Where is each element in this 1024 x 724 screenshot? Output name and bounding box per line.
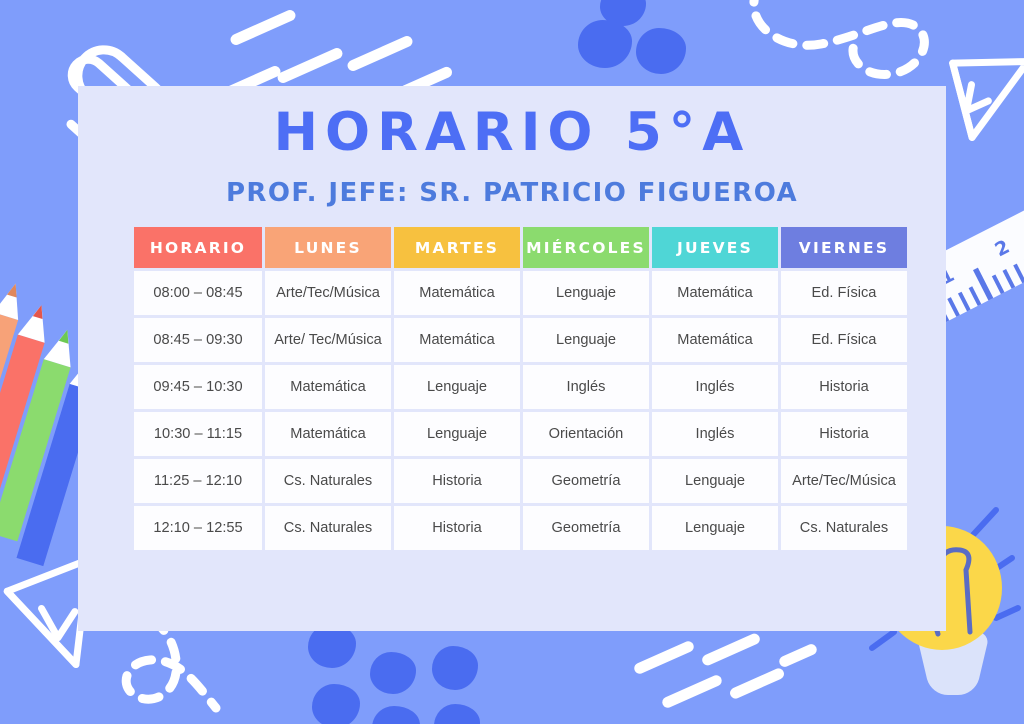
cell-martes: Matemática [394,271,520,315]
cell-jueves: Lenguaje [652,506,778,550]
column-header-miercoles: MIÉRCOLES [523,227,649,268]
cell-miercoles: Inglés [523,365,649,409]
column-header-viernes: VIERNES [781,227,907,268]
cell-jueves: Matemática [652,271,778,315]
table-row: 08:45 – 09:30 Arte/ Tec/Música Matemátic… [134,318,907,362]
cell-time: 08:00 – 08:45 [134,271,262,315]
table-row: 12:10 – 12:55 Cs. Naturales Historia Geo… [134,506,907,550]
cell-lunes: Matemática [265,365,391,409]
cell-jueves: Lenguaje [652,459,778,503]
cell-lunes: Cs. Naturales [265,459,391,503]
column-header-horario: HORARIO [134,227,262,268]
cell-martes: Historia [394,506,520,550]
cell-miercoles: Lenguaje [523,271,649,315]
table-row: 08:00 – 08:45 Arte/Tec/Música Matemática… [134,271,907,315]
table-row: 10:30 – 11:15 Matemática Lenguaje Orient… [134,412,907,456]
table-row: 11:25 – 12:10 Cs. Naturales Historia Geo… [134,459,907,503]
cell-lunes: Arte/Tec/Música [265,271,391,315]
cell-martes: Matemática [394,318,520,362]
page-title: HORARIO 5°A [78,105,946,161]
cell-time: 08:45 – 09:30 [134,318,262,362]
schedule-table: HORARIO LUNES MARTES MIÉRCOLES JUEVES VI… [131,224,910,553]
cell-miercoles: Lenguaje [523,318,649,362]
cell-lunes: Arte/ Tec/Música [265,318,391,362]
cell-viernes: Historia [781,412,907,456]
column-header-martes: MARTES [394,227,520,268]
cell-viernes: Ed. Física [781,318,907,362]
table-header-row: HORARIO LUNES MARTES MIÉRCOLES JUEVES VI… [134,227,907,268]
cell-jueves: Inglés [652,365,778,409]
cell-viernes: Cs. Naturales [781,506,907,550]
column-header-lunes: LUNES [265,227,391,268]
column-header-jueves: JUEVES [652,227,778,268]
cell-miercoles: Orientación [523,412,649,456]
cell-martes: Historia [394,459,520,503]
ruler-number-2: 2 [991,236,1013,262]
cell-jueves: Matemática [652,318,778,362]
table-row: 09:45 – 10:30 Matemática Lenguaje Inglés… [134,365,907,409]
schedule-poster: 1 2 3 [0,0,1024,724]
cell-jueves: Inglés [652,412,778,456]
cell-time: 11:25 – 12:10 [134,459,262,503]
cell-lunes: Cs. Naturales [265,506,391,550]
cell-viernes: Ed. Física [781,271,907,315]
cell-martes: Lenguaje [394,365,520,409]
white-dashes-bottom [0,630,880,724]
cell-miercoles: Geometría [523,459,649,503]
page-subtitle: PROF. JEFE: SR. PATRICIO FIGUEROA [78,178,946,208]
cell-time: 10:30 – 11:15 [134,412,262,456]
cell-time: 09:45 – 10:30 [134,365,262,409]
cell-viernes: Arte/Tec/Música [781,459,907,503]
cell-viernes: Historia [781,365,907,409]
cell-time: 12:10 – 12:55 [134,506,262,550]
poster-card: HORARIO 5°A PROF. JEFE: SR. PATRICIO FIG… [78,86,946,631]
cell-martes: Lenguaje [394,412,520,456]
cell-miercoles: Geometría [523,506,649,550]
cell-lunes: Matemática [265,412,391,456]
